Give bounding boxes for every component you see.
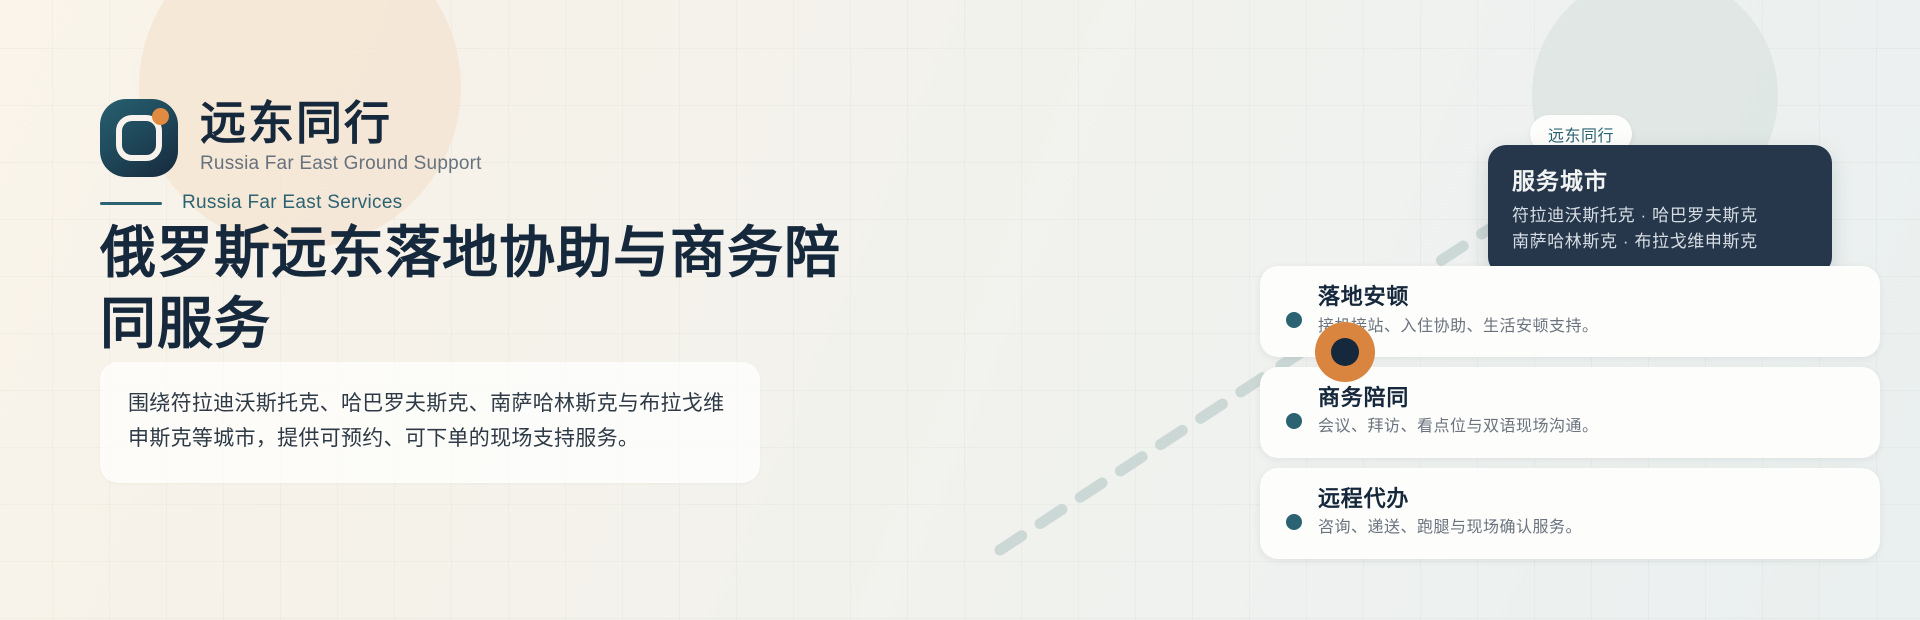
service-title: 远程代办	[1318, 485, 1856, 513]
logo-accent-dot-icon	[152, 108, 169, 125]
tooltip-title: 服务城市	[1512, 162, 1808, 196]
tooltip-cities-line-1: 符拉迪沃斯托克 · 哈巴罗夫斯克	[1512, 203, 1808, 229]
brand-subtitle: Russia Far East Ground Support	[200, 153, 482, 175]
brand-title: 远东同行	[200, 99, 482, 149]
hero-description-text: 围绕符拉迪沃斯托克、哈巴罗夫斯克、南萨哈林斯克与布拉戈维申斯克等城市，提供可预约…	[128, 386, 732, 457]
brand-lockup: 远东同行 Russia Far East Ground Support	[100, 99, 482, 177]
eyebrow-rule	[100, 202, 162, 205]
service-title: 商务陪同	[1318, 384, 1856, 412]
bullet-dot-icon	[1286, 514, 1302, 530]
bullet-dot-icon	[1286, 312, 1302, 328]
hero-banner: 远东同行 Russia Far East Ground Support Russ…	[0, 0, 1920, 620]
eyebrow: Russia Far East Services	[100, 192, 403, 214]
service-description: 咨询、递送、跑腿与现场确认服务。	[1318, 517, 1856, 539]
service-description: 接机接站、入住协助、生活安顿支持。	[1318, 316, 1856, 338]
hero-right-column: 远东同行 服务城市 符拉迪沃斯托克 · 哈巴罗夫斯克 南萨哈林斯克 · 布拉戈维…	[1060, 0, 1920, 620]
service-title: 落地安顿	[1318, 283, 1856, 311]
list-item[interactable]: 远程代办 咨询、递送、跑腿与现场确认服务。	[1260, 468, 1880, 559]
service-cities-tooltip: 服务城市 符拉迪沃斯托克 · 哈巴罗夫斯克 南萨哈林斯克 · 布拉戈维申斯克	[1488, 145, 1832, 275]
cursor-pointer-marker	[1315, 322, 1375, 382]
brand-text: 远东同行 Russia Far East Ground Support	[200, 99, 482, 177]
bullet-dot-icon	[1286, 413, 1302, 429]
camera-squircle-icon	[100, 99, 178, 177]
hero-description-card: 围绕符拉迪沃斯托克、哈巴罗夫斯克、南萨哈林斯克与布拉戈维申斯克等城市，提供可预约…	[100, 362, 760, 483]
tooltip-cities-line-2: 南萨哈林斯克 · 布拉戈维申斯克	[1512, 229, 1808, 255]
eyebrow-label: Russia Far East Services	[182, 192, 403, 214]
service-description: 会议、拜访、看点位与双语现场沟通。	[1318, 416, 1856, 438]
cursor-core-dot-icon	[1331, 338, 1359, 366]
service-list: 落地安顿 接机接站、入住协助、生活安顿支持。 商务陪同 会议、拜访、看点位与双语…	[1260, 266, 1880, 569]
hero-left-column: 远东同行 Russia Far East Ground Support Russ…	[100, 0, 920, 620]
page-title: 俄罗斯远东落地协助与商务陪同服务	[100, 218, 860, 359]
